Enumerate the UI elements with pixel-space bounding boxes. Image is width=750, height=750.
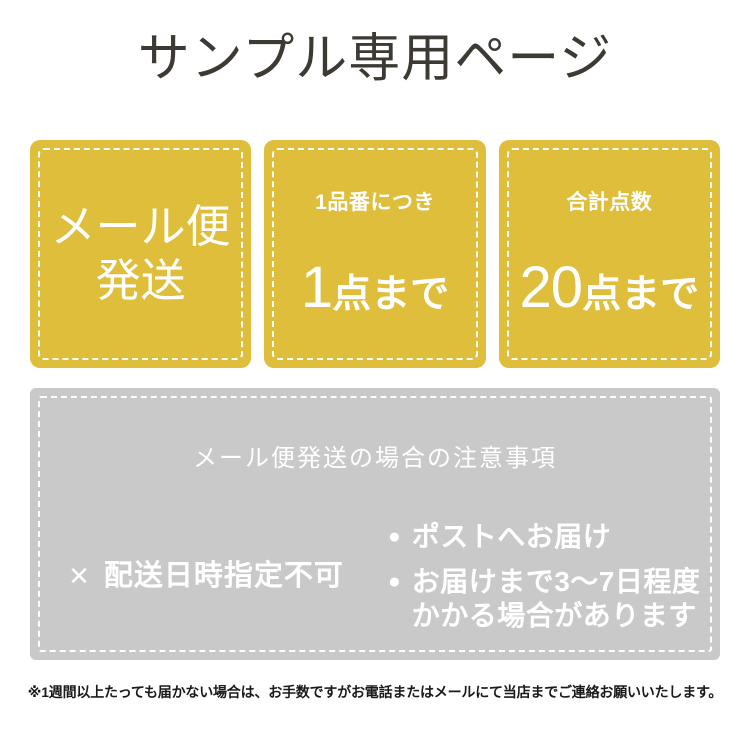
shipping-info-cards: メール便 発送 1品番につき 1 点まで 合計点数 20 点まで <box>30 140 720 368</box>
page-title: サンプル専用ページ <box>0 28 750 90</box>
card-per-item-limit: 1品番につき 1 点まで <box>264 140 485 368</box>
card-total-limit-label: 合計点数 <box>566 191 652 215</box>
notice-bullet-list: ● ポストへお届け ● お届けまで3〜7日程度 かかる場合があります <box>382 520 720 633</box>
bullet-dot-icon: ● <box>388 520 401 554</box>
card-shipping-method-content: メール便 発送 <box>30 140 251 368</box>
list-item: ● お届けまで3〜7日程度 かかる場合があります <box>388 565 720 633</box>
list-item-label: ポストへお届け <box>412 520 612 554</box>
card-shipping-method: メール便 発送 <box>30 140 251 368</box>
list-item-line1: ポストへお届け <box>412 521 612 552</box>
card-per-item-limit-content: 1品番につき 1 点まで <box>264 140 485 368</box>
card-per-item-limit-label: 1品番につき <box>315 191 435 215</box>
card-total-limit-unit: 点まで <box>582 275 699 314</box>
notice-restriction-label: 配送日時指定不可 <box>104 559 344 593</box>
notice-body: ✕ 配送日時指定不可 ● ポストへお届け ● お届けまで3〜7日程度 かかる場合… <box>30 506 720 646</box>
notice-panel: メール便発送の場合の注意事項 ✕ 配送日時指定不可 ● ポストへお届け ● お届… <box>30 388 720 660</box>
card-per-item-limit-unit: 点まで <box>332 275 449 314</box>
card-per-item-limit-value: 1 点まで <box>301 259 449 317</box>
sample-page: サンプル専用ページ メール便 発送 1品番につき 1 点まで 合計点数 <box>0 0 750 750</box>
list-item-line1: お届けまで3〜7日程度 <box>412 566 701 597</box>
notice-heading: メール便発送の場合の注意事項 <box>30 444 720 474</box>
card-per-item-limit-number: 1 <box>301 259 332 317</box>
list-item-line2: かかる場合があります <box>412 599 701 633</box>
list-item-label: お届けまで3〜7日程度 かかる場合があります <box>412 565 701 633</box>
card-total-limit-content: 合計点数 20 点まで <box>499 140 720 368</box>
cross-icon: ✕ <box>68 563 90 589</box>
card-total-limit-number: 20 <box>520 259 583 317</box>
list-item: ● ポストへお届け <box>388 520 720 554</box>
bullet-dot-icon: ● <box>388 565 401 599</box>
card-total-limit: 合計点数 20 点まで <box>499 140 720 368</box>
notice-restriction: ✕ 配送日時指定不可 <box>30 559 382 593</box>
footnote-text: ※1週間以上たっても届かない場合は、お手数ですがお電話またはメールにて当店までご… <box>0 682 750 702</box>
card-total-limit-value: 20 点まで <box>520 259 700 317</box>
card-shipping-method-line1: メール便 <box>51 200 231 254</box>
card-shipping-method-line2: 発送 <box>96 254 186 308</box>
